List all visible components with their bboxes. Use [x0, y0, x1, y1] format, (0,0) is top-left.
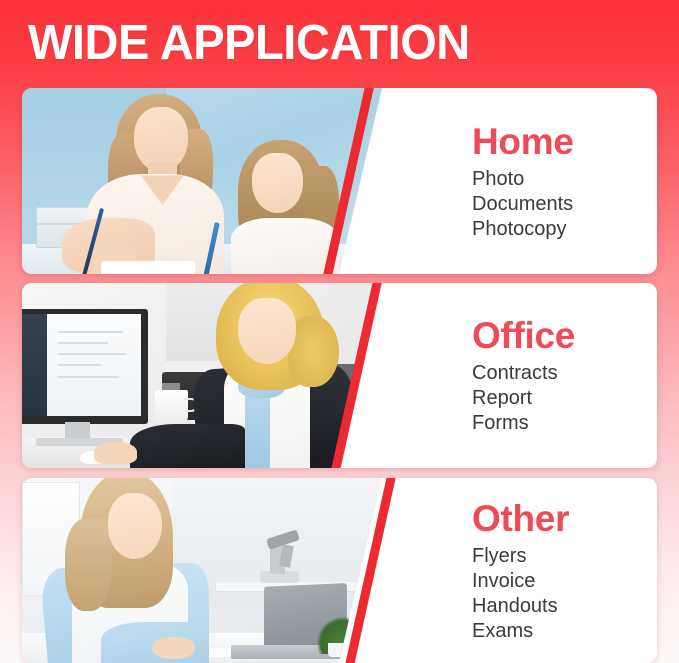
application-card-office[interactable]: Office Contracts Report Forms — [22, 283, 657, 468]
card-office-heading: Office — [472, 315, 657, 356]
list-item: Report — [472, 386, 657, 411]
list-item: Flyers — [472, 544, 657, 569]
office-woman-at-desk-image — [22, 283, 382, 468]
card-home-item-list: Photo Documents Photocopy — [472, 167, 657, 242]
application-card-home[interactable]: Home Photo Documents Photocopy — [22, 88, 657, 274]
list-item: Handouts — [472, 594, 657, 619]
list-item: Exams — [472, 619, 657, 644]
mother-and-daughter-writing-image — [22, 88, 382, 274]
card-home-heading: Home — [472, 121, 657, 162]
card-home-photo — [22, 88, 382, 274]
list-item: Photo — [472, 167, 657, 192]
card-home-text-panel: Home Photo Documents Photocopy — [450, 88, 657, 274]
list-item: Contracts — [472, 361, 657, 386]
card-office-item-list: Contracts Report Forms — [472, 361, 657, 436]
card-other-heading: Other — [472, 498, 657, 539]
list-item: Forms — [472, 411, 657, 436]
card-other-photo — [22, 478, 382, 663]
card-other-text-panel: Other Flyers Invoice Handouts Exams — [450, 478, 657, 663]
application-card-other[interactable]: Other Flyers Invoice Handouts Exams — [22, 478, 657, 663]
card-office-text-panel: Office Contracts Report Forms — [450, 283, 657, 468]
woman-in-lab-coat-with-laptop-image — [22, 478, 382, 663]
card-office-photo — [22, 283, 382, 468]
application-cards-list: Home Photo Documents Photocopy — [0, 0, 679, 663]
card-other-item-list: Flyers Invoice Handouts Exams — [472, 544, 657, 644]
list-item: Invoice — [472, 569, 657, 594]
list-item: Documents — [472, 192, 657, 217]
list-item: Photocopy — [472, 217, 657, 242]
